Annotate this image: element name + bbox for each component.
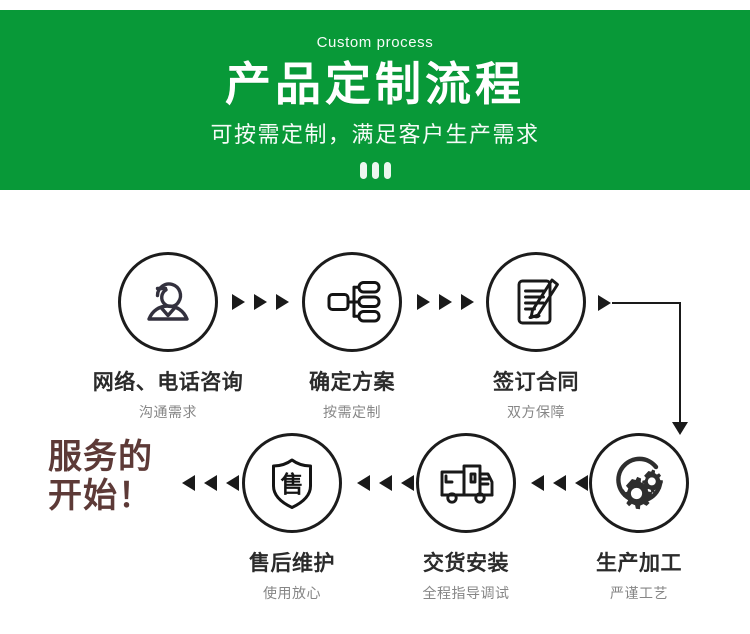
- arrow-right-icon: [254, 294, 267, 310]
- arrow-right-icon: [598, 295, 611, 311]
- start-label-line1: 服务的: [48, 438, 153, 477]
- step-contract-title: 签订合同: [451, 366, 621, 396]
- step-aftersales-title: 售后维护: [207, 547, 377, 577]
- divider-bar-1: [360, 162, 367, 179]
- shield-glyph: 售: [281, 471, 304, 497]
- arrow-left-icon: [182, 475, 195, 491]
- elbow-connector-contract-to-production: [598, 294, 698, 434]
- header-banner: Custom process 产品定制流程 可按需定制，满足客户生产需求: [0, 10, 750, 190]
- arrow-right-icon: [232, 294, 245, 310]
- banner-divider-dots: [360, 162, 391, 179]
- start-label: 服务的 开始！: [48, 438, 153, 517]
- step-plan-title: 确定方案: [267, 366, 437, 396]
- divider-bar-3: [384, 162, 391, 179]
- step-consult-circle: [118, 252, 218, 352]
- flowchart-icon: [321, 271, 383, 333]
- step-contract-circle: [486, 252, 586, 352]
- gears-icon: [607, 451, 671, 515]
- banner-subtitle: 可按需定制，满足客户生产需求: [210, 117, 539, 149]
- step-consult-subtitle: 沟通需求: [83, 402, 253, 422]
- page-title: 产品定制流程: [225, 57, 525, 111]
- custom-process-infographic: Custom process 产品定制流程 可按需定制，满足客户生产需求: [0, 0, 750, 634]
- step-delivery-title: 交货安装: [381, 547, 551, 577]
- step-consult[interactable]: 网络、电话咨询 沟通需求: [83, 252, 253, 422]
- step-plan-circle: [302, 252, 402, 352]
- step-delivery-circle: [416, 433, 516, 533]
- arrow-left-icon: [357, 475, 370, 491]
- step-production-title: 生产加工: [554, 547, 724, 577]
- step-aftersales[interactable]: 售 售后维护 使用放心: [207, 433, 377, 603]
- banner-eyebrow: Custom process: [317, 35, 434, 50]
- step-plan-subtitle: 按需定制: [267, 402, 437, 422]
- step-aftersales-circle: 售: [242, 433, 342, 533]
- step-plan[interactable]: 确定方案 按需定制: [267, 252, 437, 422]
- step-contract[interactable]: 签订合同 双方保障: [451, 252, 621, 422]
- step-contract-subtitle: 双方保障: [451, 402, 621, 422]
- step-production[interactable]: 生产加工 严谨工艺: [554, 433, 724, 603]
- arrow-left-icon: [531, 475, 544, 491]
- divider-bar-2: [372, 162, 379, 179]
- connector-vertical-line: [679, 302, 681, 424]
- document-pen-icon: [505, 271, 567, 333]
- step-consult-title: 网络、电话咨询: [83, 366, 253, 396]
- shield-sale-icon: 售: [261, 452, 323, 514]
- process-flow: 网络、电话咨询 沟通需求: [0, 190, 750, 634]
- step-production-subtitle: 严谨工艺: [554, 583, 724, 603]
- step-delivery-subtitle: 全程指导调试: [381, 583, 551, 603]
- person-headset-icon: [137, 271, 199, 333]
- truck-icon: [435, 452, 497, 514]
- start-label-line2: 开始！: [48, 477, 153, 516]
- connector-horizontal-line: [612, 302, 680, 304]
- step-production-circle: [589, 433, 689, 533]
- step-aftersales-subtitle: 使用放心: [207, 583, 377, 603]
- step-delivery[interactable]: 交货安装 全程指导调试: [381, 433, 551, 603]
- arrow-right-icon: [417, 294, 430, 310]
